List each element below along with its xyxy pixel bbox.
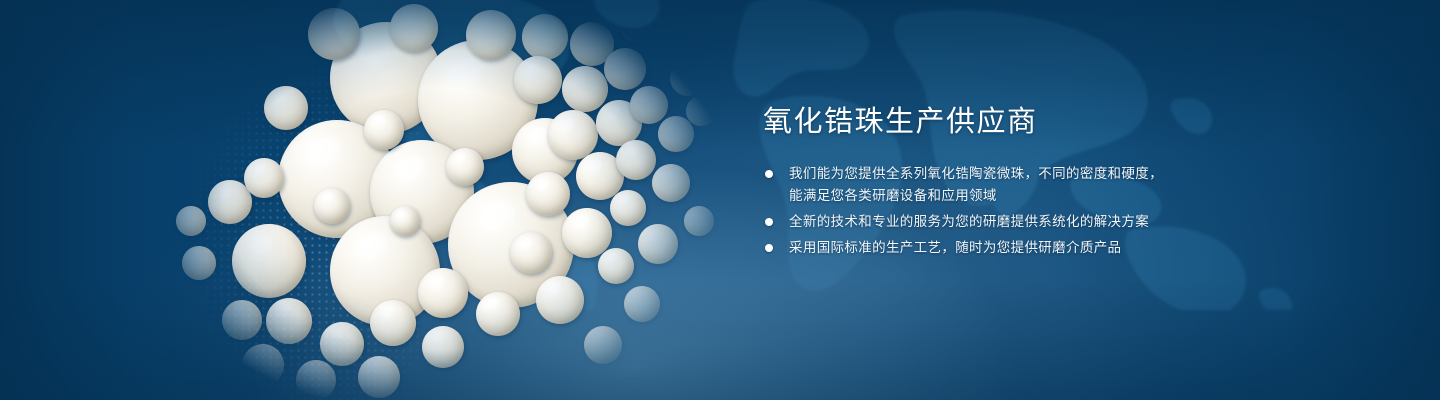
- bullet-dot-icon: [765, 244, 773, 252]
- bullet-dot-icon: [765, 170, 773, 178]
- promo-banner: 氧化锆珠生产供应商 我们能为您提供全系列氧化锆陶瓷微珠，不同的密度和硬度， 能满…: [0, 0, 1440, 400]
- list-item: 我们能为您提供全系列氧化锆陶瓷微珠，不同的密度和硬度， 能满足您各类研磨设备和应…: [763, 163, 1383, 207]
- bullet-dot-icon: [765, 218, 773, 226]
- list-item-line: 全新的技术和专业的服务为您的研磨提供系统化的解决方案: [789, 211, 1383, 233]
- list-item: 采用国际标准的生产工艺，随时为您提供研磨介质产品: [763, 237, 1383, 259]
- list-item-line: 我们能为您提供全系列氧化锆陶瓷微珠，不同的密度和硬度，: [789, 163, 1383, 185]
- zirconia-beads-image: [118, 0, 728, 400]
- list-item-line: 能满足您各类研磨设备和应用领域: [789, 185, 1383, 207]
- list-item: 全新的技术和专业的服务为您的研磨提供系统化的解决方案: [763, 211, 1383, 233]
- banner-copy: 氧化锆珠生产供应商 我们能为您提供全系列氧化锆陶瓷微珠，不同的密度和硬度， 能满…: [763, 103, 1383, 259]
- banner-headline: 氧化锆珠生产供应商: [763, 103, 1383, 141]
- feature-list: 我们能为您提供全系列氧化锆陶瓷微珠，不同的密度和硬度， 能满足您各类研磨设备和应…: [763, 163, 1383, 259]
- list-item-line: 采用国际标准的生产工艺，随时为您提供研磨介质产品: [789, 237, 1383, 259]
